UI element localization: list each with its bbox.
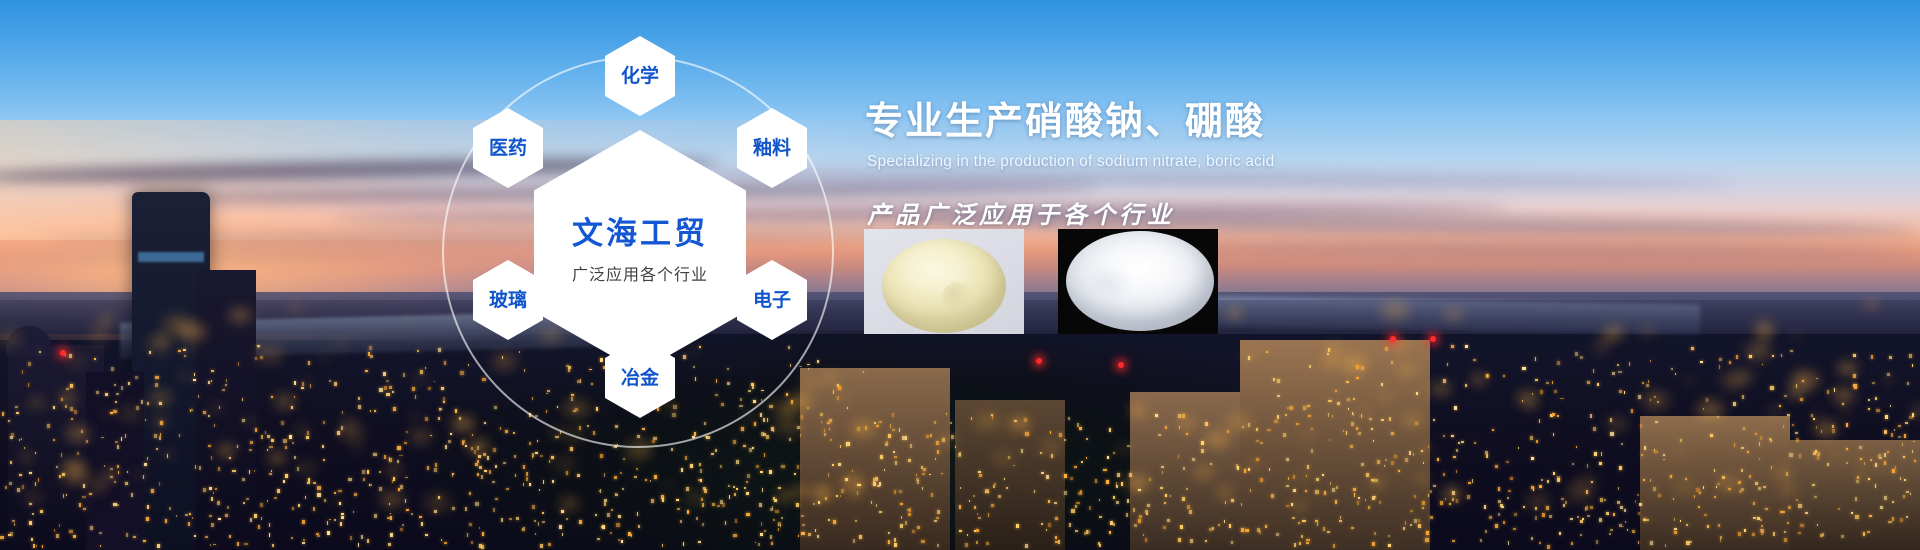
company-subtitle: 广泛应用各个行业: [572, 261, 708, 285]
tagline: 产品广泛应用于各个行业: [867, 195, 1865, 230]
company-name: 文海工贸: [572, 217, 708, 251]
hexagon-label: 玻璃: [489, 291, 527, 310]
promo-banner: 文海工贸 广泛应用各个行业 化学 釉料 电子 冶金 玻璃 医药 专业生产硝酸钠、…: [0, 0, 1920, 550]
product-photo-strip: [864, 229, 1218, 334]
lit-building: [1790, 440, 1920, 550]
lit-building: [1640, 416, 1790, 550]
antenna-light: [1118, 362, 1124, 368]
antenna-light: [1430, 336, 1436, 342]
hexagon-label: 釉料: [753, 139, 791, 158]
antenna-light: [1036, 358, 1042, 364]
hexagon-label: 冶金: [621, 369, 659, 388]
headline-chinese: 专业生产硝酸钠、硼酸: [865, 100, 1865, 145]
hexagon-label: 电子: [753, 291, 791, 310]
industry-hex-diagram: 文海工贸 广泛应用各个行业 化学 釉料 电子 冶金 玻璃 医药: [420, 0, 900, 550]
antenna-light: [1390, 336, 1396, 342]
skyscraper: [86, 372, 144, 550]
powder-heap: [1066, 231, 1214, 331]
headline-english: Specializing in the production of sodium…: [867, 153, 1865, 171]
hexagon-label: 化学: [621, 67, 659, 86]
headline-block: 专业生产硝酸钠、硼酸 Specializing in the productio…: [865, 100, 1865, 230]
product-photo-boric-acid: [1058, 229, 1218, 334]
powder-heap: [882, 239, 1006, 333]
hexagon-label: 医药: [489, 139, 527, 158]
product-photo-sodium-nitrate: [864, 229, 1024, 334]
